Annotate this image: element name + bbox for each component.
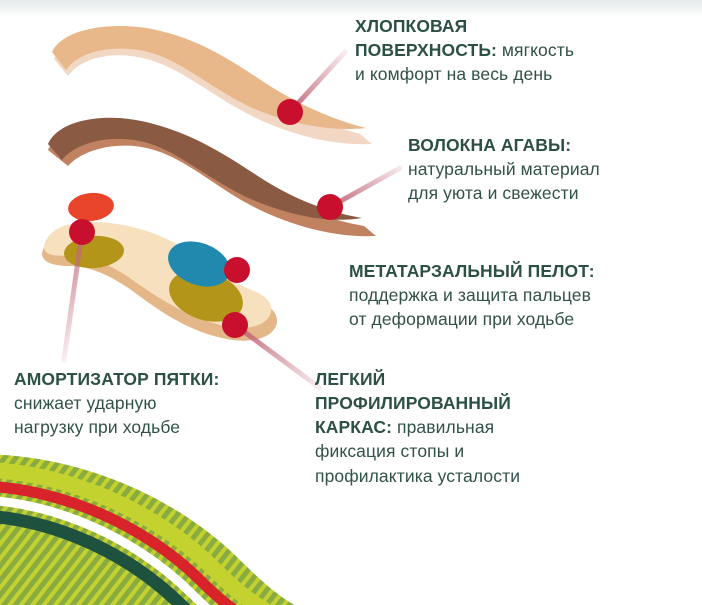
callout-frame-line3-rest: правильная	[392, 417, 494, 437]
callout-agave-fibers: ВОЛОКНА АГАВЫ: натуральный материал для …	[408, 133, 698, 205]
callout-frame-line5: профилактика усталости	[315, 466, 520, 486]
callout-heel-line1: АМОРТИЗАТОР ПЯТКИ:	[14, 369, 219, 389]
callout-light-frame: ЛЕГКИЙ ПРОФИЛИРОВАННЫЙ КАРКАС: правильна…	[315, 367, 630, 488]
callout-heel-shock-absorber: АМОРТИЗАТОР ПЯТКИ: снижает ударную нагру…	[14, 367, 314, 439]
callout-metatarsal-line1: МЕТАТАРЗАЛЬНЫЙ ПЕЛОТ:	[349, 261, 595, 281]
callout-agave-line3: для уюта и свежести	[408, 183, 579, 203]
heel-cushion-pad	[67, 191, 116, 224]
callout-metatarsal-line3: от деформации при ходьбе	[349, 309, 574, 329]
marker-dot-cotton	[277, 99, 303, 125]
callout-metatarsal-line2: поддержка и защита пальцев	[349, 285, 591, 305]
marker-dot-heel	[69, 219, 95, 245]
callout-cotton-line3: и комфорт на весь день	[355, 64, 552, 84]
callout-heel-line2: снижает ударную	[14, 393, 157, 413]
marker-dot-agave	[317, 194, 343, 220]
callout-metatarsal-pad: МЕТАТАРЗАЛЬНЫЙ ПЕЛОТ: поддержка и защита…	[349, 259, 699, 331]
callout-agave-line2: натуральный материал	[408, 159, 600, 179]
marker-dot-metatarsal	[224, 257, 250, 283]
callout-cotton-surface: ХЛОПКОВАЯ ПОВЕРХНОСТЬ: мягкость и комфор…	[355, 14, 695, 86]
callout-heel-line3: нагрузку при ходьбе	[14, 417, 180, 437]
marker-dot-frame	[222, 312, 248, 338]
brand-swoosh	[0, 454, 310, 605]
callout-cotton-line1: ХЛОПКОВАЯ	[355, 16, 467, 36]
callout-frame-line3-bold: КАРКАС:	[315, 417, 392, 437]
callout-frame-line2: ПРОФИЛИРОВАННЫЙ	[315, 393, 511, 413]
callout-cotton-line2-rest: мягкость	[497, 40, 574, 60]
callout-frame-line4: фиксация стопы и	[315, 441, 464, 461]
callout-cotton-line2-bold: ПОВЕРХНОСТЬ:	[355, 40, 497, 60]
infographic-canvas: ХЛОПКОВАЯ ПОВЕРХНОСТЬ: мягкость и комфор…	[0, 0, 702, 605]
callout-frame-line1: ЛЕГКИЙ	[315, 369, 385, 389]
callout-agave-line1: ВОЛОКНА АГАВЫ:	[408, 135, 571, 155]
